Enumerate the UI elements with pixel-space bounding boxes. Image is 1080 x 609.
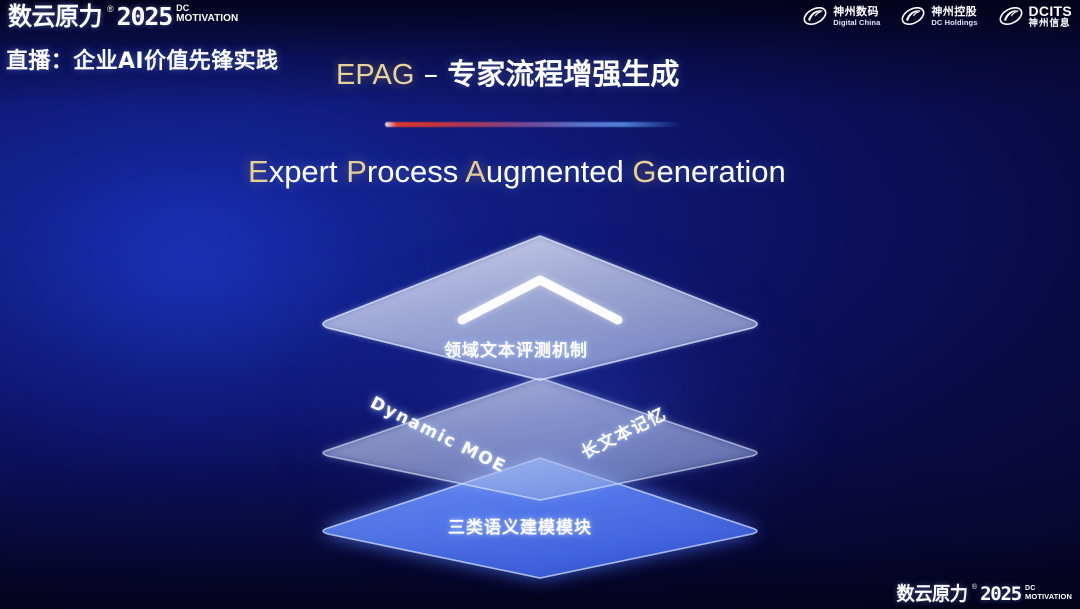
logo-dc-holdings-cn: 神州控股 [931, 6, 977, 17]
logo-dc-holdings-en: DC Holdings [931, 19, 977, 27]
subtitle-word-augmented: Augmented [465, 154, 624, 189]
brand-dc-motivation: DC MOTIVATION [176, 2, 238, 24]
chevron-up-icon [440, 268, 640, 328]
subtitle-rest-augmented: ugmented [486, 154, 624, 189]
logo-dcits: DCITS 神州信息 [998, 4, 1073, 29]
page-title-acronym: EPAG [336, 59, 414, 91]
stack-layer-top[interactable]: 领域文本评测机制 [300, 228, 780, 578]
subtitle-word-expert: Expert [248, 154, 338, 189]
page-title: EPAG – 专家流程增强生成 [336, 55, 679, 94]
subtitle-word-generation: Generation [632, 154, 785, 189]
subtitle-rest-generation: eneration [656, 154, 785, 189]
logo-digital-china: 神州数码 Digital China [802, 4, 880, 28]
footer-brand-name-cn: 数云原力 [896, 583, 967, 605]
swoosh-logo-icon [900, 4, 926, 28]
brand-registered-mark: ® [107, 2, 114, 16]
stack-layer-top-label: 领域文本评测机制 [444, 336, 588, 361]
swoosh-logo-icon [998, 4, 1024, 28]
live-stream-title: 直播：企业AI价值先锋实践 [6, 48, 278, 76]
logo-dc-holdings-text: 神州控股 DC Holdings [931, 6, 977, 27]
subtitle-cap-e: E [248, 154, 269, 189]
brand-logo-bottom-right: 数云原力 ® 2025 DC MOTIVATION [895, 583, 1072, 605]
subtitle-cap-p: P [346, 154, 367, 189]
subtitle-word-process: Process [346, 154, 458, 189]
title-divider [385, 122, 680, 127]
subtitle-cap-g: G [632, 154, 656, 189]
slide-stage: 数云原力 ® 2025 DC MOTIVATION 直播：企业AI价值先锋实践 … [0, 0, 1080, 609]
logo-digital-china-cn: 神州数码 [833, 6, 880, 17]
footer-brand-year: 2025 [980, 583, 1021, 605]
footer-brand-dc-label: DC [1025, 585, 1072, 592]
logo-digital-china-text: 神州数码 Digital China [833, 6, 880, 27]
page-subtitle: Expert Process Augmented Generation [248, 152, 786, 192]
logo-digital-china-en: Digital China [833, 19, 880, 27]
logo-dcits-cn: 神州信息 [1029, 19, 1073, 29]
subtitle-cap-a: A [465, 154, 486, 189]
brand-year: 2025 [117, 2, 172, 32]
footer-brand-motivation-label: MOTIVATION [1025, 592, 1072, 601]
subtitle-rest-expert: xpert [269, 154, 338, 189]
page-title-chinese: 专家流程增强生成 [447, 57, 679, 91]
logo-dc-holdings: 神州控股 DC Holdings [900, 4, 977, 28]
brand-motivation-label: MOTIVATION [176, 13, 238, 24]
layer-stack-diagram: 三类语义建模模块 Dynamic MO [300, 228, 780, 578]
brand-logo-top-left: 数云原力 ® 2025 DC MOTIVATION [6, 2, 238, 32]
footer-brand-registered-mark: ® [972, 583, 977, 593]
brand-name-cn: 数云原力 [8, 2, 102, 32]
brand-dc-label: DC [176, 4, 238, 13]
logo-dcits-en: DCITS [1029, 4, 1073, 18]
logo-dcits-text: DCITS 神州信息 [1029, 4, 1073, 29]
page-title-dash: – [414, 57, 447, 91]
partner-logo-group: 神州数码 Digital China 神州控股 DC Holdings [802, 4, 1072, 29]
footer-brand-dc-motivation: DC MOTIVATION [1025, 583, 1072, 601]
subtitle-rest-process: rocess [367, 154, 458, 189]
swoosh-logo-icon [802, 4, 828, 28]
